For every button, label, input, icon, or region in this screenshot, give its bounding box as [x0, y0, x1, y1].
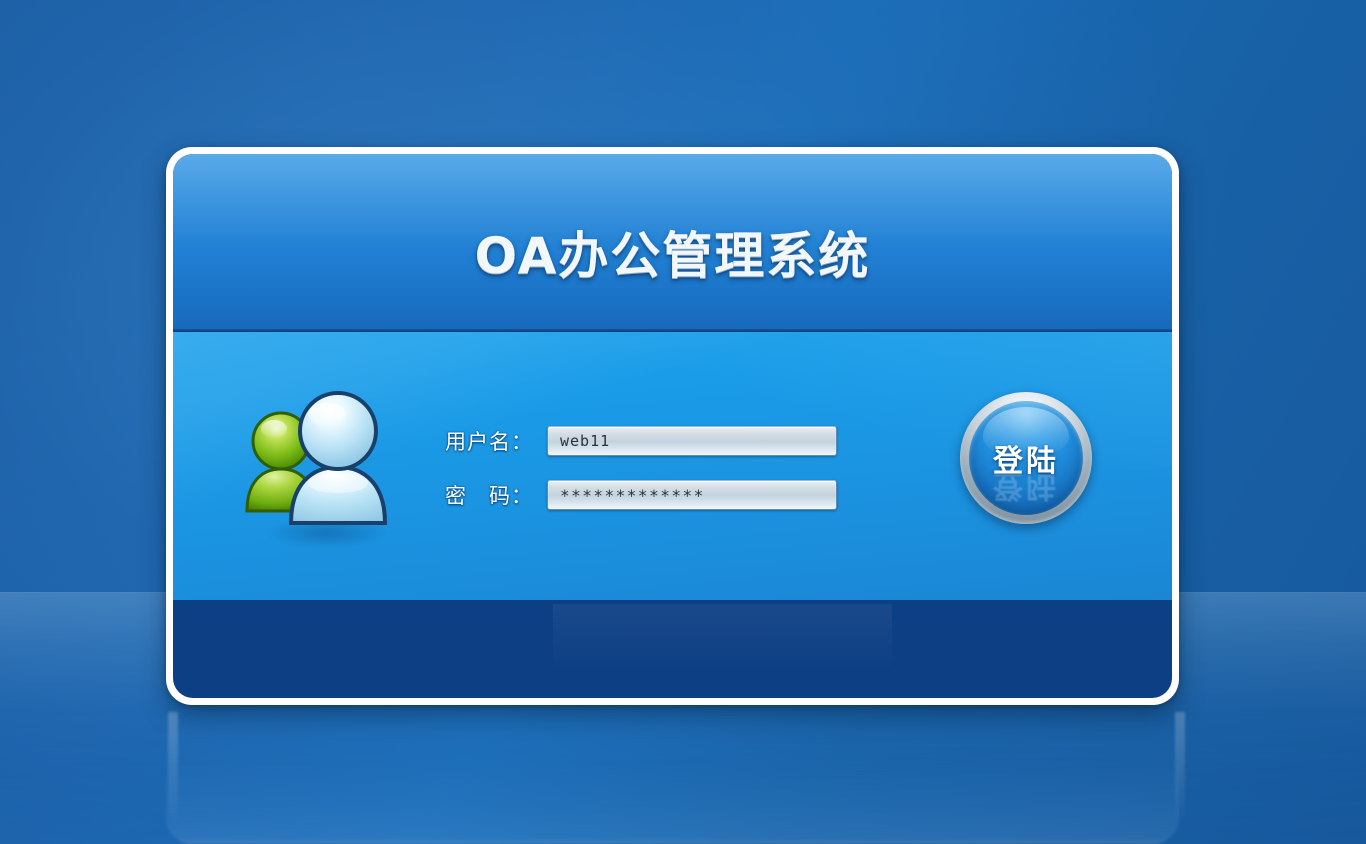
login-panel: OA办公管理系统 — [166, 147, 1179, 705]
username-input[interactable]: web11 — [547, 426, 837, 456]
login-button-label-reflection: 登陆 — [969, 467, 1083, 511]
panel-body: 用户名： web11 密 码： ************* — [173, 332, 1172, 600]
panel-reflection-right-edge — [1175, 712, 1185, 824]
username-value: web11 — [560, 432, 610, 450]
password-input[interactable]: ************* — [547, 480, 837, 510]
panel-footer — [173, 600, 1172, 698]
page-title: OA办公管理系统 — [173, 216, 1172, 288]
panel-mirror-reflection — [166, 712, 1179, 844]
username-row: 用户名： web11 — [423, 426, 934, 456]
panel-reflection-left-edge — [168, 712, 178, 824]
panel-header: OA办公管理系统 — [173, 154, 1172, 332]
login-button-gloss — [983, 407, 1070, 457]
password-row: 密 码： ************* — [423, 480, 934, 510]
login-panel-inner: OA办公管理系统 — [173, 154, 1172, 698]
login-button-area: 登陆 登陆 — [952, 392, 1102, 542]
password-label: 密 码： — [423, 480, 547, 510]
login-form: 用户名： web11 密 码： ************* — [173, 332, 1172, 600]
login-button-face: 登陆 登陆 — [969, 401, 1083, 515]
footer-band — [553, 604, 893, 671]
username-label: 用户名： — [423, 426, 547, 456]
credential-fields: 用户名： web11 密 码： ************* — [423, 426, 934, 510]
login-panel-frame: OA办公管理系统 — [166, 147, 1179, 705]
login-button-label: 登陆 — [969, 436, 1083, 480]
users-avatar-icon — [235, 383, 405, 555]
login-screen: OA办公管理系统 — [0, 0, 1366, 844]
password-value: ************* — [560, 486, 705, 504]
login-button[interactable]: 登陆 登陆 — [960, 392, 1092, 524]
